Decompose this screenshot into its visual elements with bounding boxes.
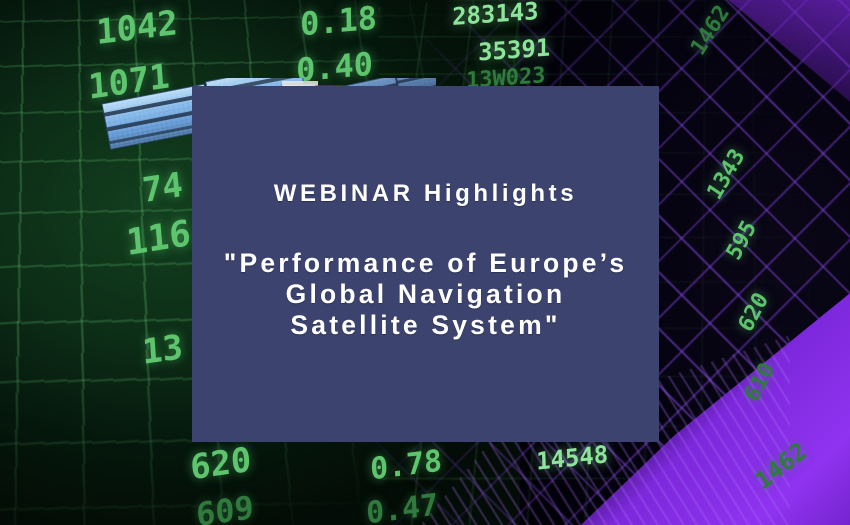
title-panel: WEBINAR Highlights "Performance of Europ… bbox=[192, 86, 659, 442]
background-digit: 0.78 bbox=[369, 444, 443, 488]
background-digit: 116 bbox=[125, 213, 193, 264]
background-digit: 1462 bbox=[750, 437, 811, 496]
title-line-1: "Performance of Europe’s bbox=[192, 248, 659, 279]
background-digit: 0.18 bbox=[300, 0, 377, 43]
background-digit: 283143 bbox=[452, 0, 538, 31]
background-digit: 1042 bbox=[95, 3, 178, 53]
slide-canvas: 10420.1828314310710.403539113W0231462741… bbox=[0, 0, 850, 525]
title-spacer bbox=[192, 206, 659, 248]
page-title: "Performance of Europe’s Global Navigati… bbox=[192, 248, 659, 341]
background-digit: 35391 bbox=[478, 33, 550, 66]
background-digit: 13 bbox=[141, 327, 184, 373]
title-block: WEBINAR Highlights "Performance of Europ… bbox=[192, 182, 659, 341]
background-digit: 620 bbox=[734, 288, 774, 336]
webinar-kicker: WEBINAR Highlights bbox=[192, 182, 659, 206]
background-digit: 595 bbox=[722, 216, 762, 264]
background-digit: 1343 bbox=[703, 145, 750, 205]
background-digit: 1462 bbox=[686, 1, 734, 61]
title-line-3: Satellite System" bbox=[192, 310, 659, 341]
background-digit: 0.47 bbox=[365, 488, 439, 525]
background-digit: 609 bbox=[195, 488, 255, 525]
title-line-2: Global Navigation bbox=[192, 279, 659, 310]
background-digit: 620 bbox=[189, 440, 253, 489]
background-digit: 610 bbox=[740, 358, 780, 406]
background-digit: 14548 bbox=[536, 440, 609, 476]
